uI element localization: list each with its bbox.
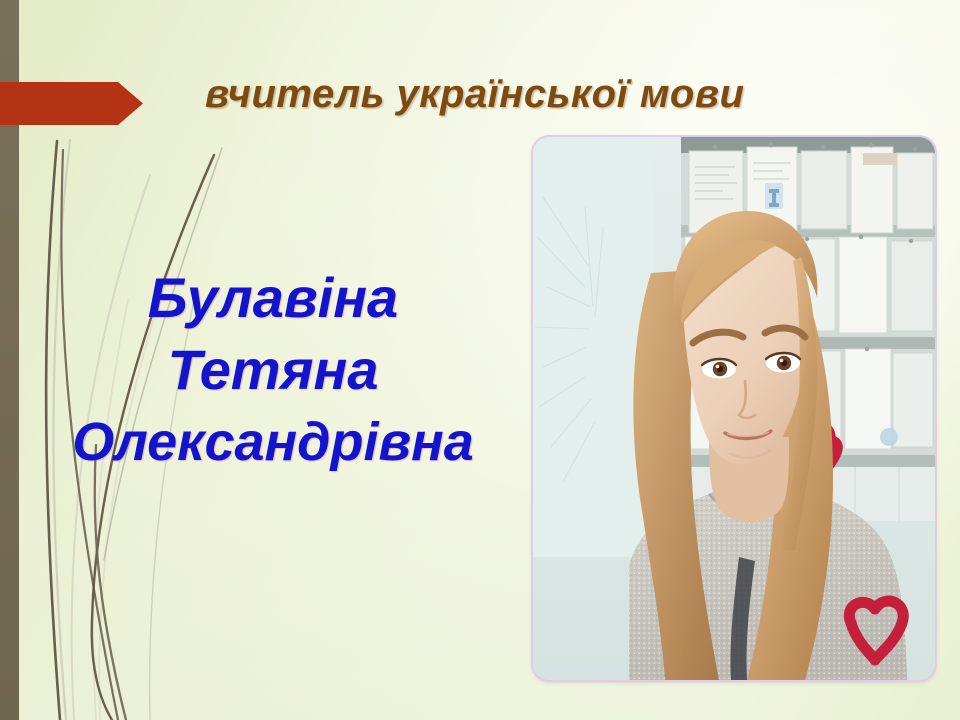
name-line-patronymic: Олександрівна <box>8 406 538 478</box>
portrait-photo-reflection <box>541 683 927 720</box>
name-line-firstname: Тетяна <box>8 334 538 406</box>
presentation-slide: вчитель української мови Булавіна Тетяна… <box>0 0 960 720</box>
portrait-photo <box>533 137 935 680</box>
arrow-banner-decoration <box>0 82 145 125</box>
teacher-name: Булавіна Тетяна Олександрівна <box>8 262 538 478</box>
name-line-surname: Булавіна <box>8 262 538 334</box>
page-title: вчитель української мови <box>205 72 950 117</box>
